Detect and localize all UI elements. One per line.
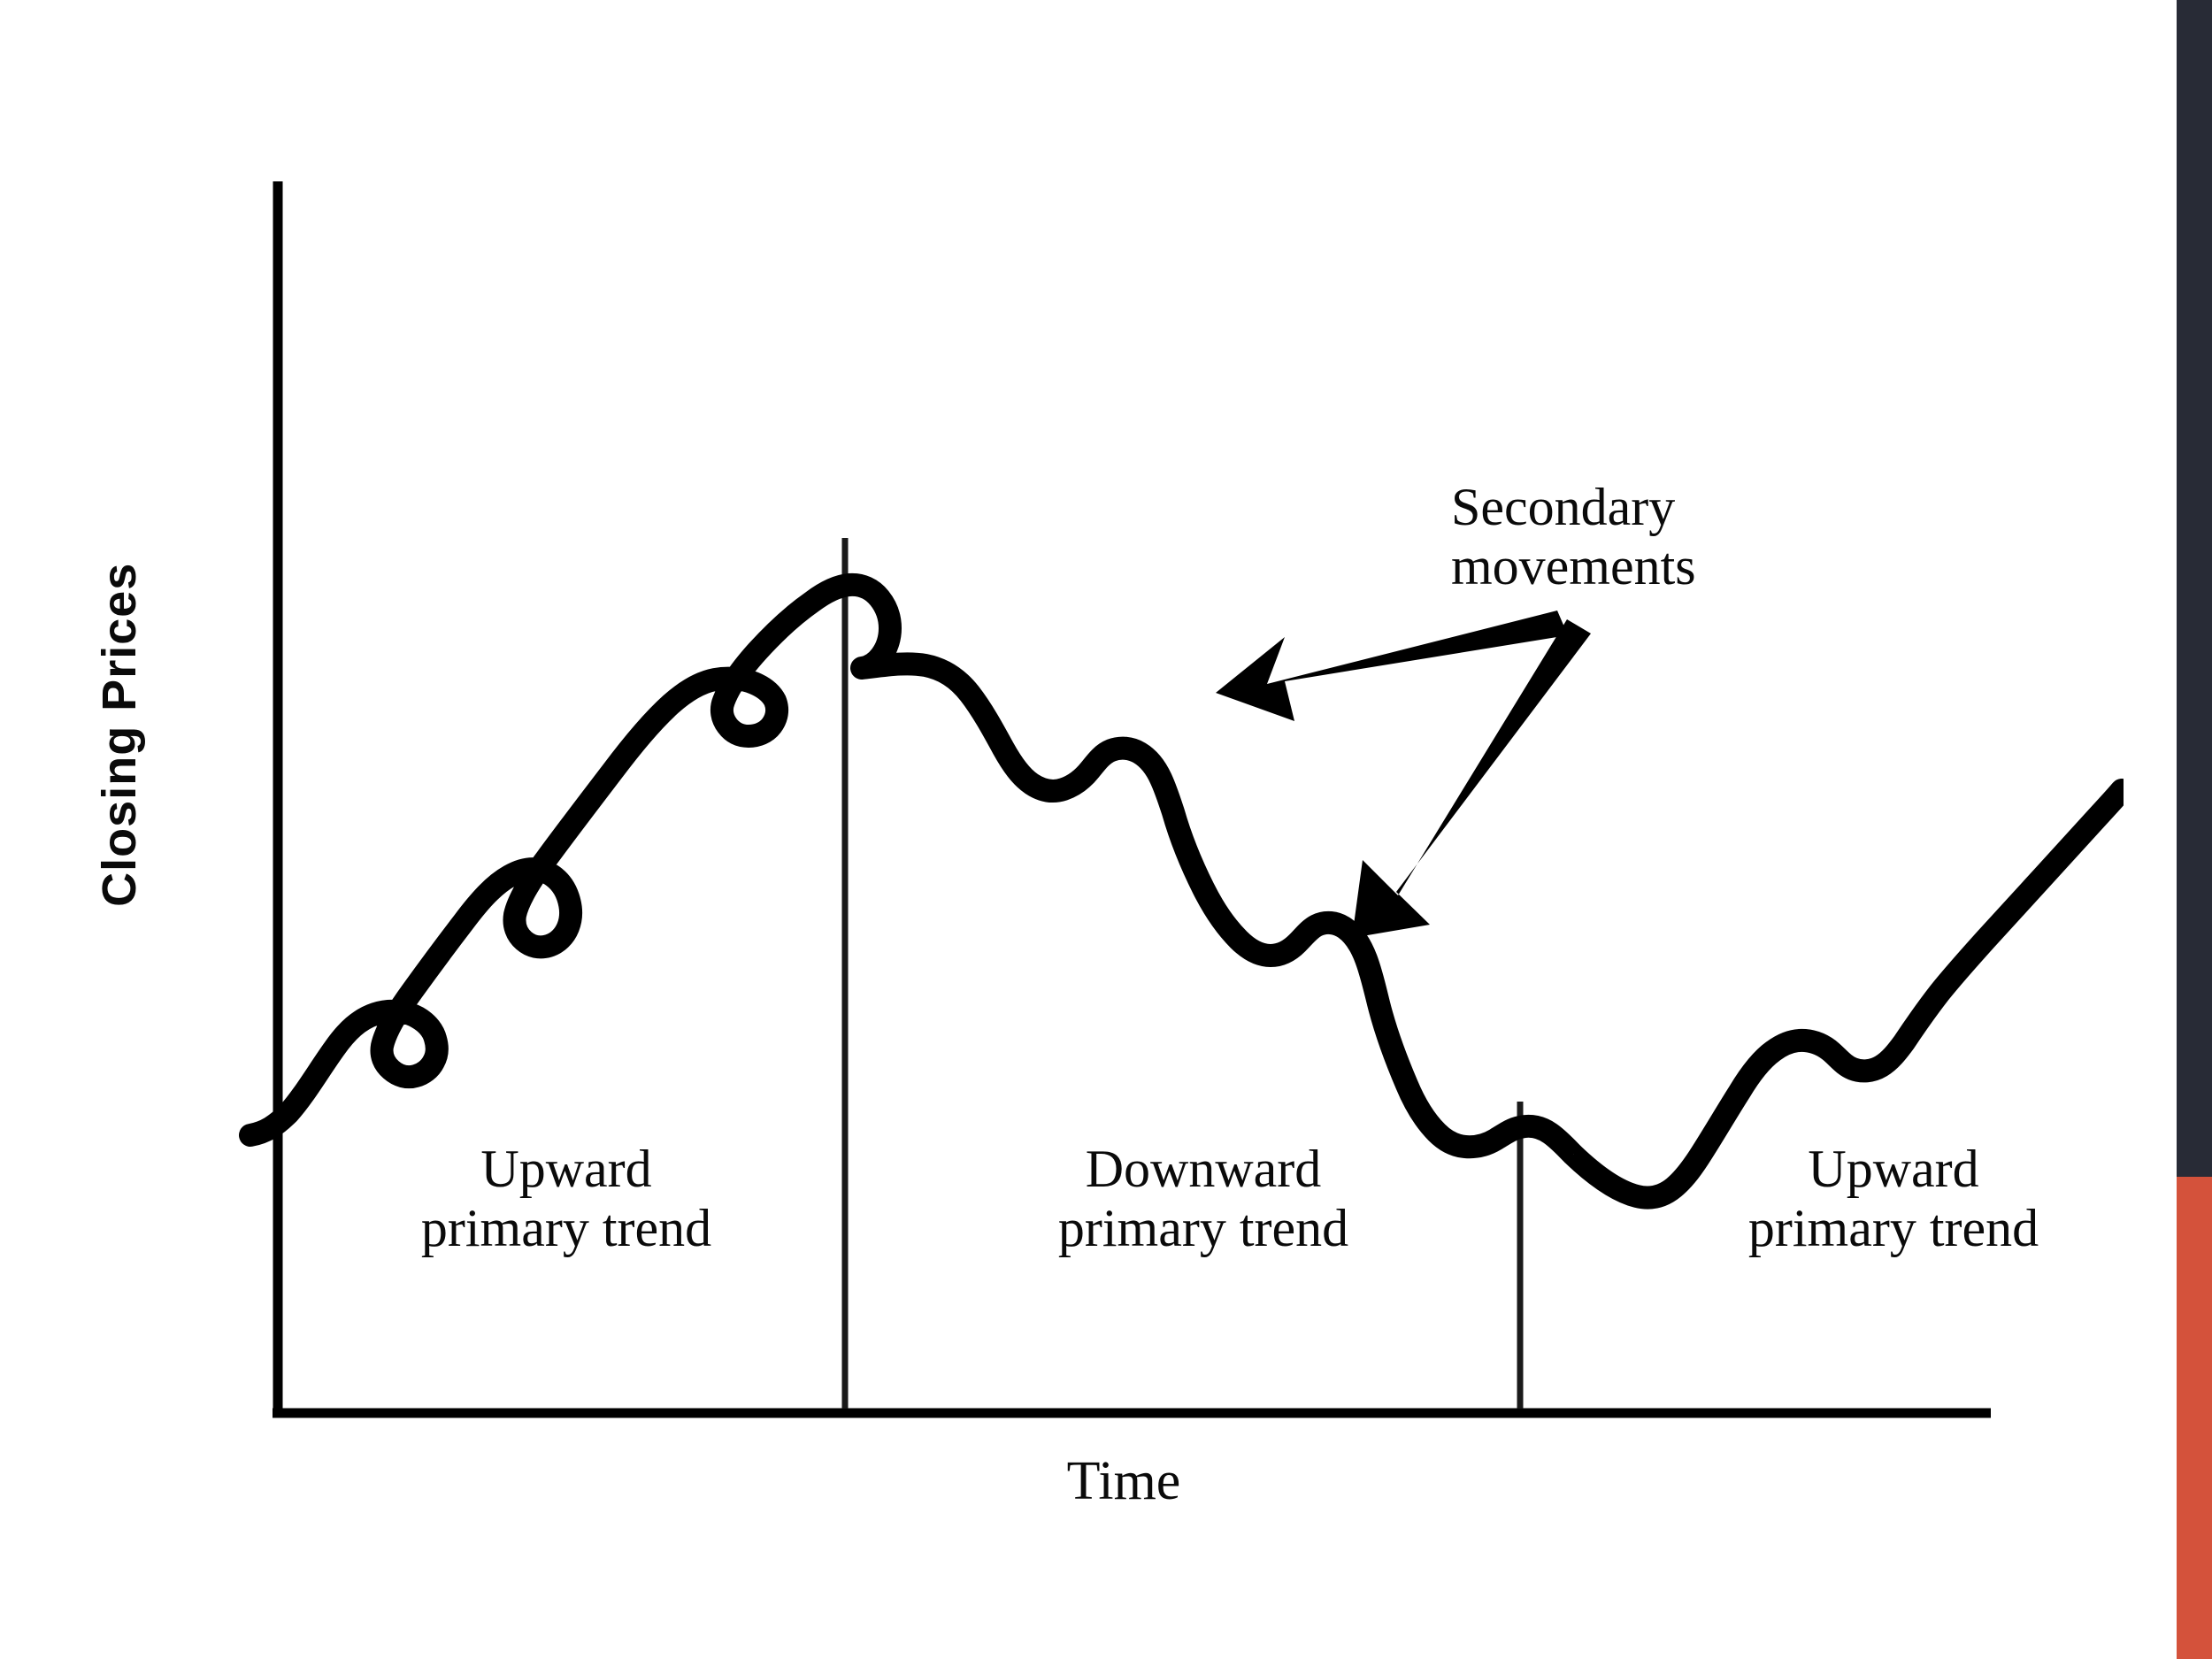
annotation-arrows [1216, 611, 1591, 938]
chart-svg [0, 0, 2124, 1659]
edge-bar-accent [2177, 1177, 2212, 1659]
price-line-series [250, 585, 2122, 1198]
annotation-secondary-movements: Secondary movements [1451, 478, 1982, 596]
x-axis-title: Time [938, 1451, 1310, 1512]
segment-label-upward-primary-trend-right: Upward primary trend [1628, 1140, 2159, 1258]
edge-bar-dark [2177, 0, 2212, 1177]
segment-label-upward-primary-trend-left: Upward primary trend [301, 1140, 832, 1258]
segment-label-downward-primary-trend: Downward primary trend [938, 1140, 1469, 1258]
closing-price-line [250, 585, 2122, 1198]
y-axis-title: Closing Prices [93, 549, 146, 920]
secondary-arrow-lower [1352, 619, 1591, 938]
slide-canvas: Closing Prices Time Upward primary trend… [0, 0, 2212, 1659]
chart-figure [0, 0, 2124, 1659]
